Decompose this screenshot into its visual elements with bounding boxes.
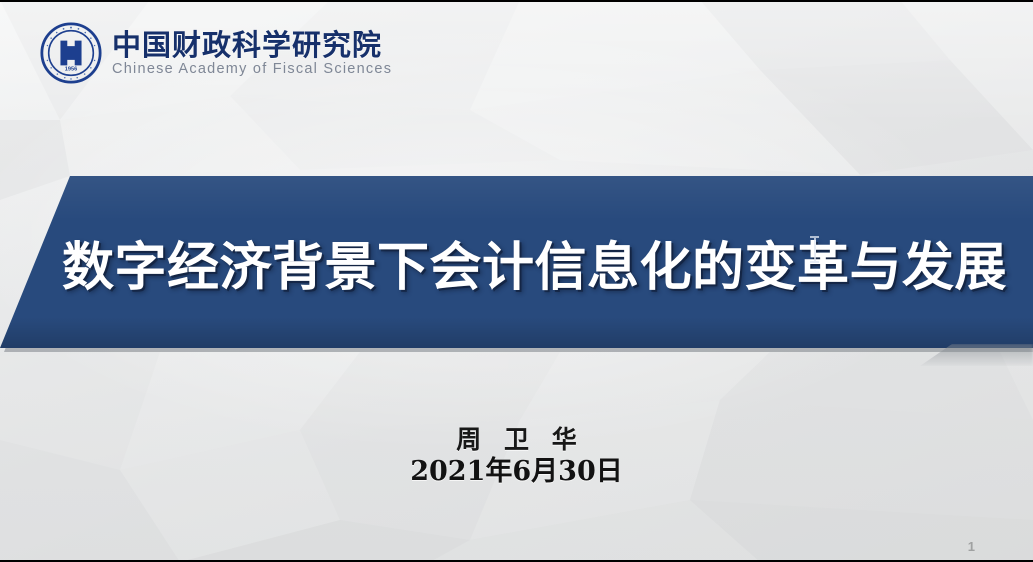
- letterbox-top-edge: [0, 0, 1033, 2]
- organization-name-cn: 中国财政科学研究院: [112, 30, 392, 60]
- presentation-date: 2021年6月30日: [0, 456, 1033, 488]
- svg-text:1956: 1956: [65, 66, 77, 72]
- cafs-seal-emblem-icon: 1956: [40, 22, 102, 84]
- institution-logo: 1956 中国财政科学研究院 Chinese Academy of Fiscal…: [40, 22, 392, 84]
- presentation-slide: 1956 中国财政科学研究院 Chinese Academy of Fiscal…: [0, 0, 1033, 562]
- page-number: 1: [968, 539, 975, 554]
- presenter-name: 周 卫 华: [0, 424, 1033, 455]
- organization-name-en: Chinese Academy of Fiscal Sciences: [112, 61, 392, 78]
- logo-wordmark: 中国财政科学研究院 Chinese Academy of Fiscal Scie…: [112, 28, 392, 79]
- slide-title: 数字经济背景下会计信息化的变革与发展: [0, 176, 1033, 348]
- presenter-block: 周 卫 华 2021年6月30日: [0, 424, 1033, 489]
